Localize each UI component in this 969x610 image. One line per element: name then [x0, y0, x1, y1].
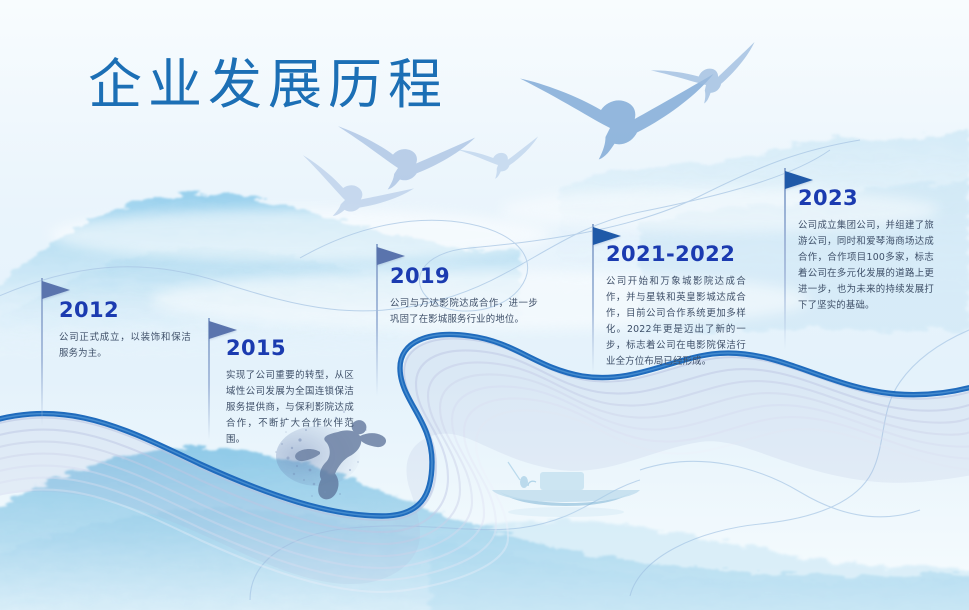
timeline-year: 2019: [390, 264, 450, 288]
poster-canvas: 企业发展历程 2012 公司正式成立，以装饰和保洁服务为主。 2015 实现了公…: [0, 0, 969, 610]
timeline-description: 公司与万达影院达成合作，进一步巩固了在影城服务行业的地位。: [390, 296, 538, 328]
timeline-entry-2021-2022[interactable]: 2021-2022 公司开始和万象城影院达成合作，并与星轶和英皇影城达成合作，目…: [592, 224, 772, 384]
timeline-description: 公司正式成立，以装饰和保洁服务为主。: [59, 330, 191, 362]
page-title: 企业发展历程: [88, 58, 448, 112]
flag-pole: [41, 278, 43, 426]
milestone-flag-icon: [42, 281, 70, 299]
timeline-entry-2012[interactable]: 2012 公司正式成立，以装饰和保洁服务为主。: [41, 278, 211, 428]
flag-pole: [376, 244, 378, 396]
timeline-year: 2015: [226, 336, 286, 360]
timeline-year: 2023: [798, 186, 858, 210]
flag-pole: [784, 168, 786, 350]
timeline-description: 公司开始和万象城影院达成合作，并与星轶和英皇影城达成合作，目前公司合作系统更加多…: [606, 274, 746, 370]
flag-pole: [592, 224, 594, 374]
timeline-year: 2021-2022: [606, 242, 735, 266]
milestone-flag-icon: [377, 247, 405, 265]
timeline-entry-2023[interactable]: 2023 公司成立集团公司，并组建了旅游公司，同时和爱琴海商场达成合作，合作项目…: [784, 168, 964, 358]
timeline-entry-2019[interactable]: 2019 公司与万达影院达成合作，进一步巩固了在影城服务行业的地位。: [376, 244, 556, 404]
timeline-entry-2015[interactable]: 2015 实现了公司重要的转型，从区域性公司发展为全国连锁保洁服务提供商，与保利…: [208, 318, 378, 458]
timeline-description: 实现了公司重要的转型，从区域性公司发展为全国连锁保洁服务提供商，与保利影院达成合…: [226, 368, 354, 448]
timeline-year: 2012: [59, 298, 119, 322]
timeline-description: 公司成立集团公司，并组建了旅游公司，同时和爱琴海商场达成合作，合作项目100多家…: [798, 218, 934, 314]
